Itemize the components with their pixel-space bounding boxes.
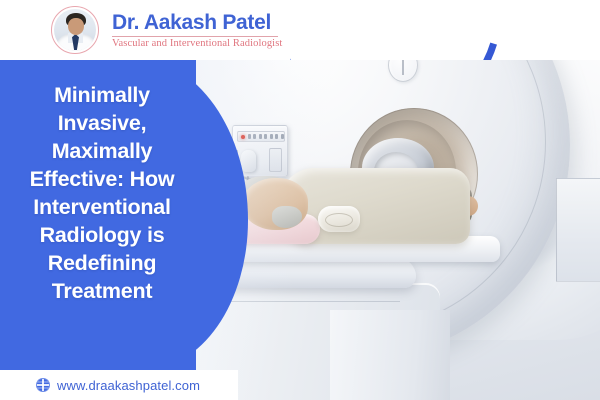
panel-key-icon bbox=[264, 134, 267, 139]
website-url[interactable]: www.draakashpatel.com bbox=[57, 378, 200, 393]
avatar bbox=[51, 6, 99, 54]
panel-key-icon bbox=[248, 134, 251, 139]
doctor-face bbox=[68, 18, 84, 35]
doctor-name: Dr. Aakash Patel bbox=[112, 11, 271, 35]
panel-key-icon bbox=[281, 134, 284, 139]
control-panel-buttons bbox=[269, 148, 282, 172]
doctor-specialty: Vascular and Interventional Radiologist bbox=[112, 38, 282, 49]
social-media-post-card: Minimally Invasive, Maximally Effective:… bbox=[0, 0, 600, 400]
panel-key-icon bbox=[259, 134, 262, 139]
page-title: Minimally Invasive, Maximally Effective:… bbox=[8, 82, 196, 306]
panel-key-icon bbox=[270, 134, 273, 139]
header-bar: Dr. Aakash Patel Vascular and Interventi… bbox=[0, 0, 600, 60]
mri-side-cabinet bbox=[556, 178, 600, 282]
control-panel-display bbox=[237, 131, 285, 142]
panel-key-icon bbox=[253, 134, 256, 139]
divider bbox=[112, 36, 278, 37]
panel-key-icon bbox=[275, 134, 278, 139]
avatar-photo bbox=[54, 9, 96, 51]
rolled-towel bbox=[318, 206, 360, 232]
patient-table-column bbox=[330, 310, 450, 400]
status-led-icon bbox=[241, 135, 245, 139]
globe-icon bbox=[36, 378, 50, 392]
footer-bar: www.draakashpatel.com bbox=[0, 370, 238, 400]
